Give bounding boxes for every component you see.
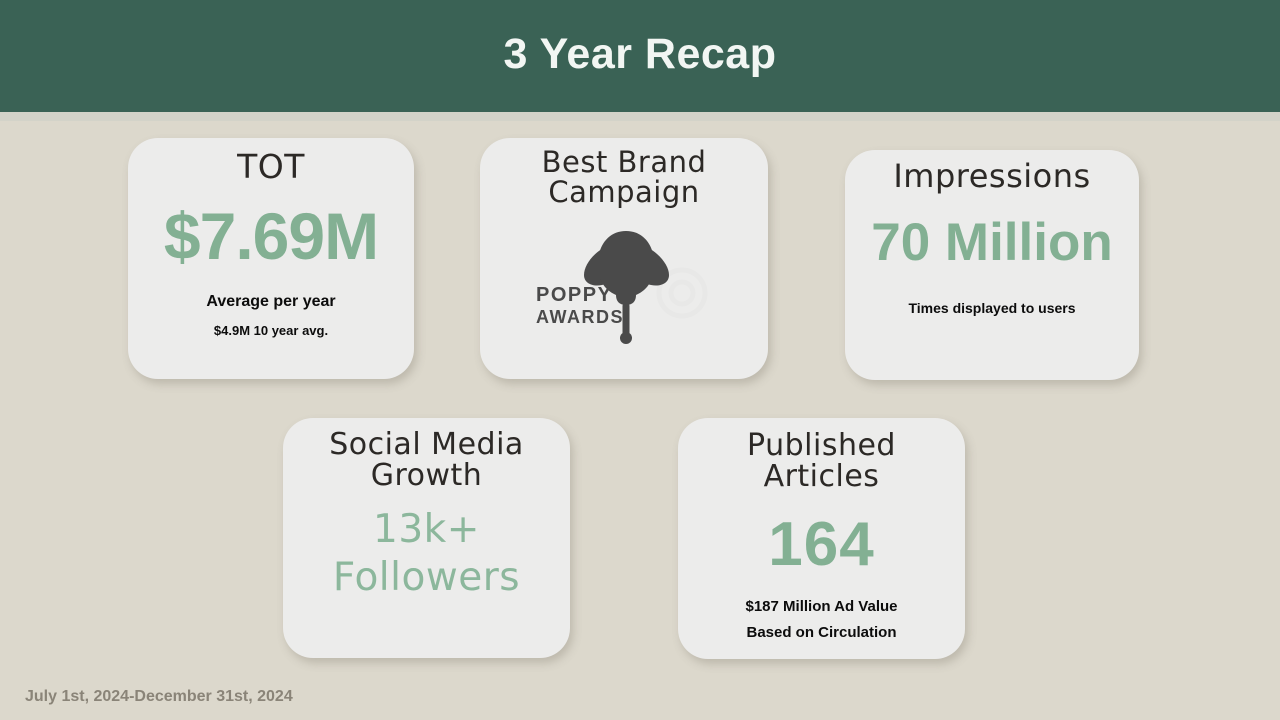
card-heading-social: Social Media Growth — [329, 430, 524, 491]
footer-date-range: July 1st, 2024-December 31st, 2024 — [25, 688, 293, 706]
card-subtext-impressions: Times displayed to users — [908, 300, 1075, 316]
card-subtext-tot-secondary: $4.9M 10 year avg. — [214, 323, 328, 338]
card-heading-campaign-line2: Campaign — [542, 178, 707, 208]
poppy-logo-text-line1: POPPY — [536, 284, 612, 306]
card-heading-impressions: Impressions — [893, 160, 1090, 193]
card-heading-articles-line1: Published — [747, 431, 896, 462]
card-heading-tot: TOT — [237, 150, 305, 184]
card-heading-campaign: Best Brand Campaign — [542, 148, 707, 207]
stat-card-best-brand-campaign[interactable]: Best Brand Campaign — [480, 138, 768, 379]
stat-card-social-media-growth[interactable]: Social Media Growth 13k+ Followers — [283, 418, 570, 658]
slide-header: 3 Year Recap — [0, 0, 1280, 112]
poppy-logo-text-line2: AWARDS — [536, 307, 624, 327]
card-value-social-followers-count: 13k+ — [373, 510, 480, 549]
card-value-tot: $7.69M — [164, 203, 378, 269]
card-subtext-articles-primary: $187 Million Ad Value — [746, 598, 898, 615]
stat-card-impressions[interactable]: Impressions 70 Million Times displayed t… — [845, 150, 1139, 380]
card-heading-campaign-line1: Best Brand — [542, 148, 707, 178]
card-value-impressions: 70 Million — [871, 216, 1112, 269]
header-underband — [0, 112, 1280, 121]
stat-card-tot[interactable]: TOT $7.69M Average per year $4.9M 10 yea… — [128, 138, 414, 379]
poppy-flower-icon: POPPY AWARDS — [524, 215, 724, 345]
cards-stage: TOT $7.69M Average per year $4.9M 10 yea… — [0, 121, 1280, 720]
poppy-awards-logo: POPPY AWARDS — [524, 215, 724, 345]
card-heading-articles: Published Articles — [747, 431, 896, 492]
card-subtext-articles-secondary: Based on Circulation — [746, 624, 896, 641]
stat-card-published-articles[interactable]: Published Articles 164 $187 Million Ad V… — [678, 418, 965, 659]
card-value-social-followers-label: Followers — [333, 558, 520, 597]
card-value-articles: 164 — [768, 514, 874, 576]
card-heading-social-line2: Growth — [329, 461, 524, 492]
page-title: 3 Year Recap — [504, 33, 777, 76]
card-heading-social-line1: Social Media — [329, 430, 524, 461]
card-subtext-tot-primary: Average per year — [206, 293, 335, 311]
card-heading-articles-line2: Articles — [747, 462, 896, 493]
